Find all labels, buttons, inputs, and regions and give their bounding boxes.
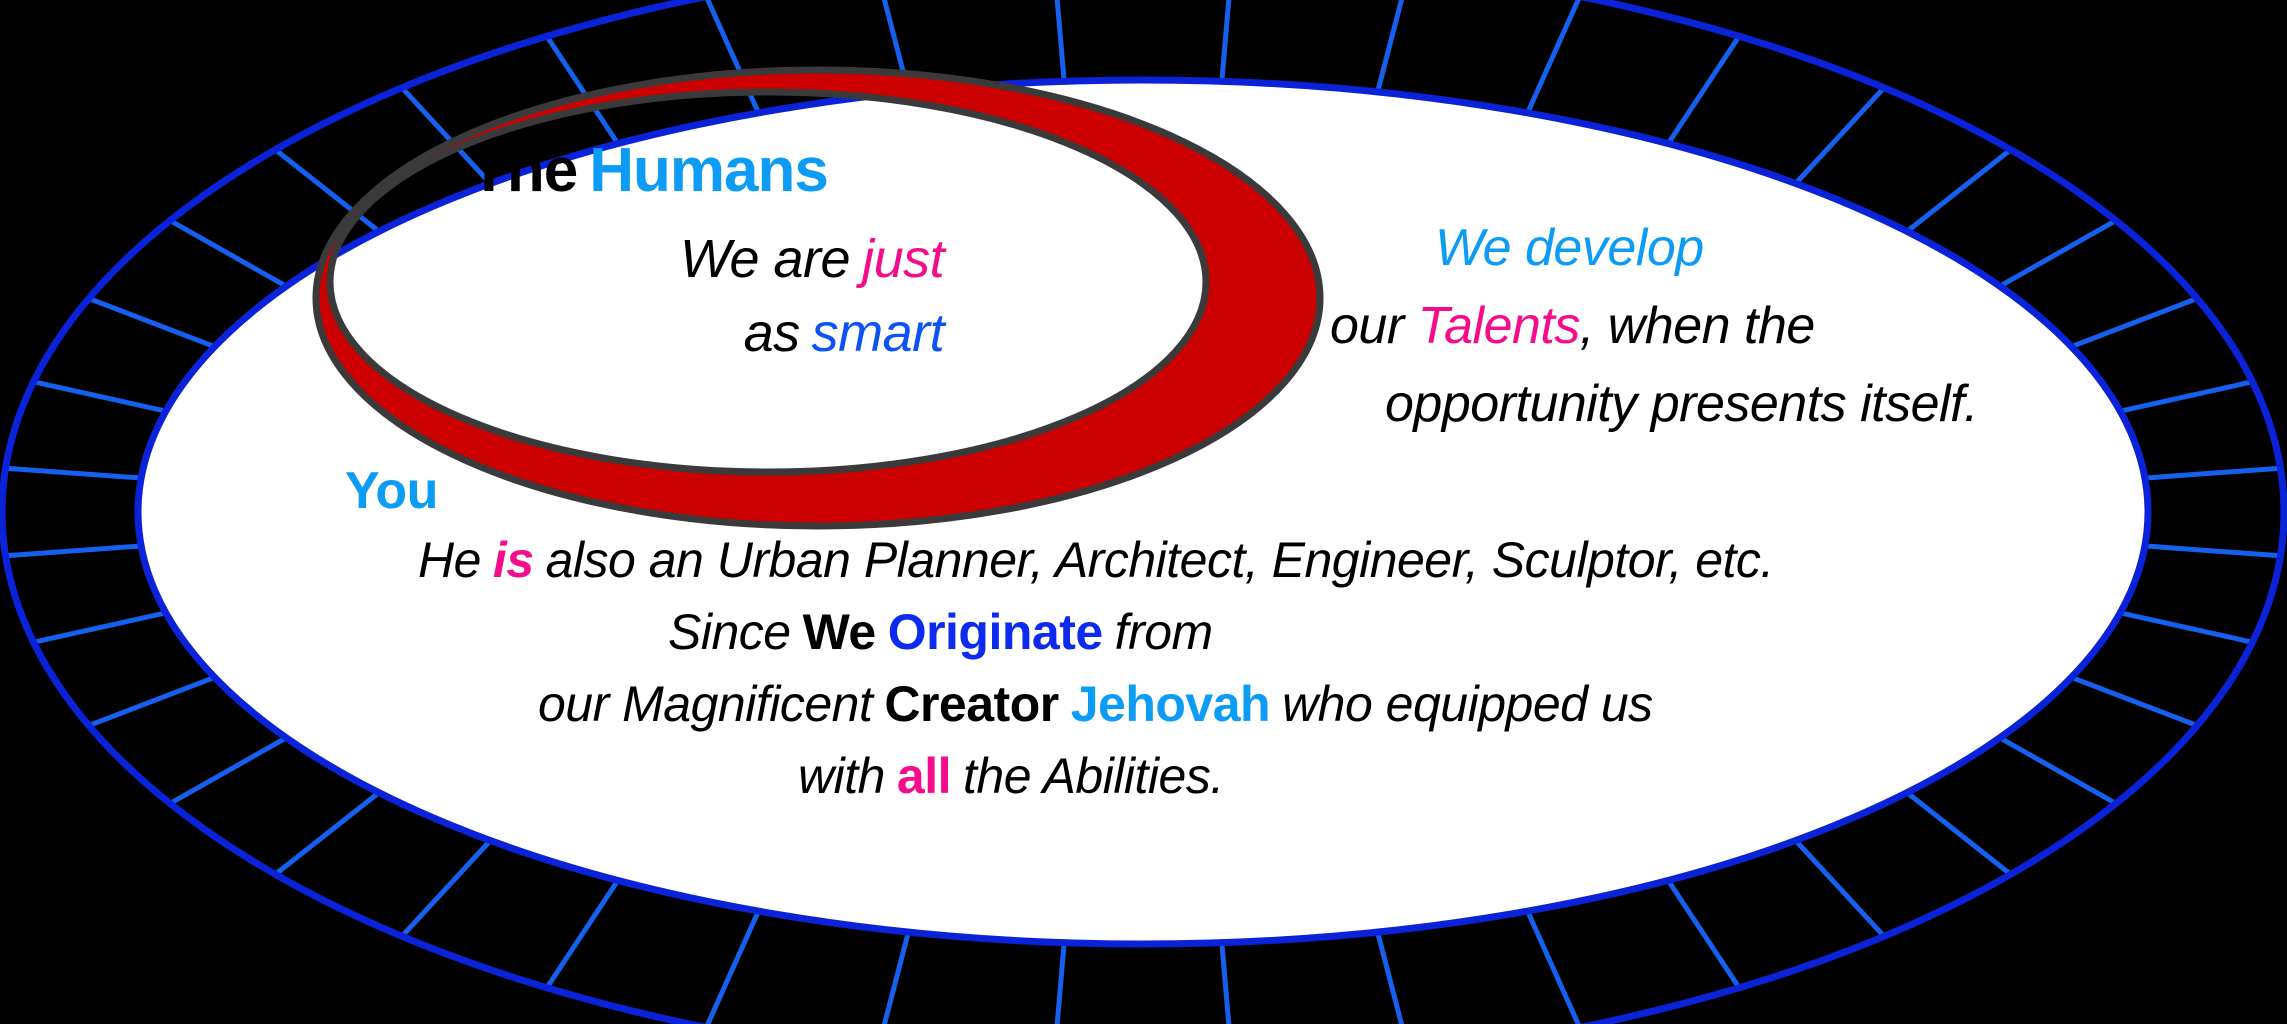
- poster-canvas: TheHumans We arejustassmart We developou…: [0, 0, 2287, 1024]
- red-crescent: [316, 70, 1320, 526]
- arena-illustration: [0, 0, 2287, 1024]
